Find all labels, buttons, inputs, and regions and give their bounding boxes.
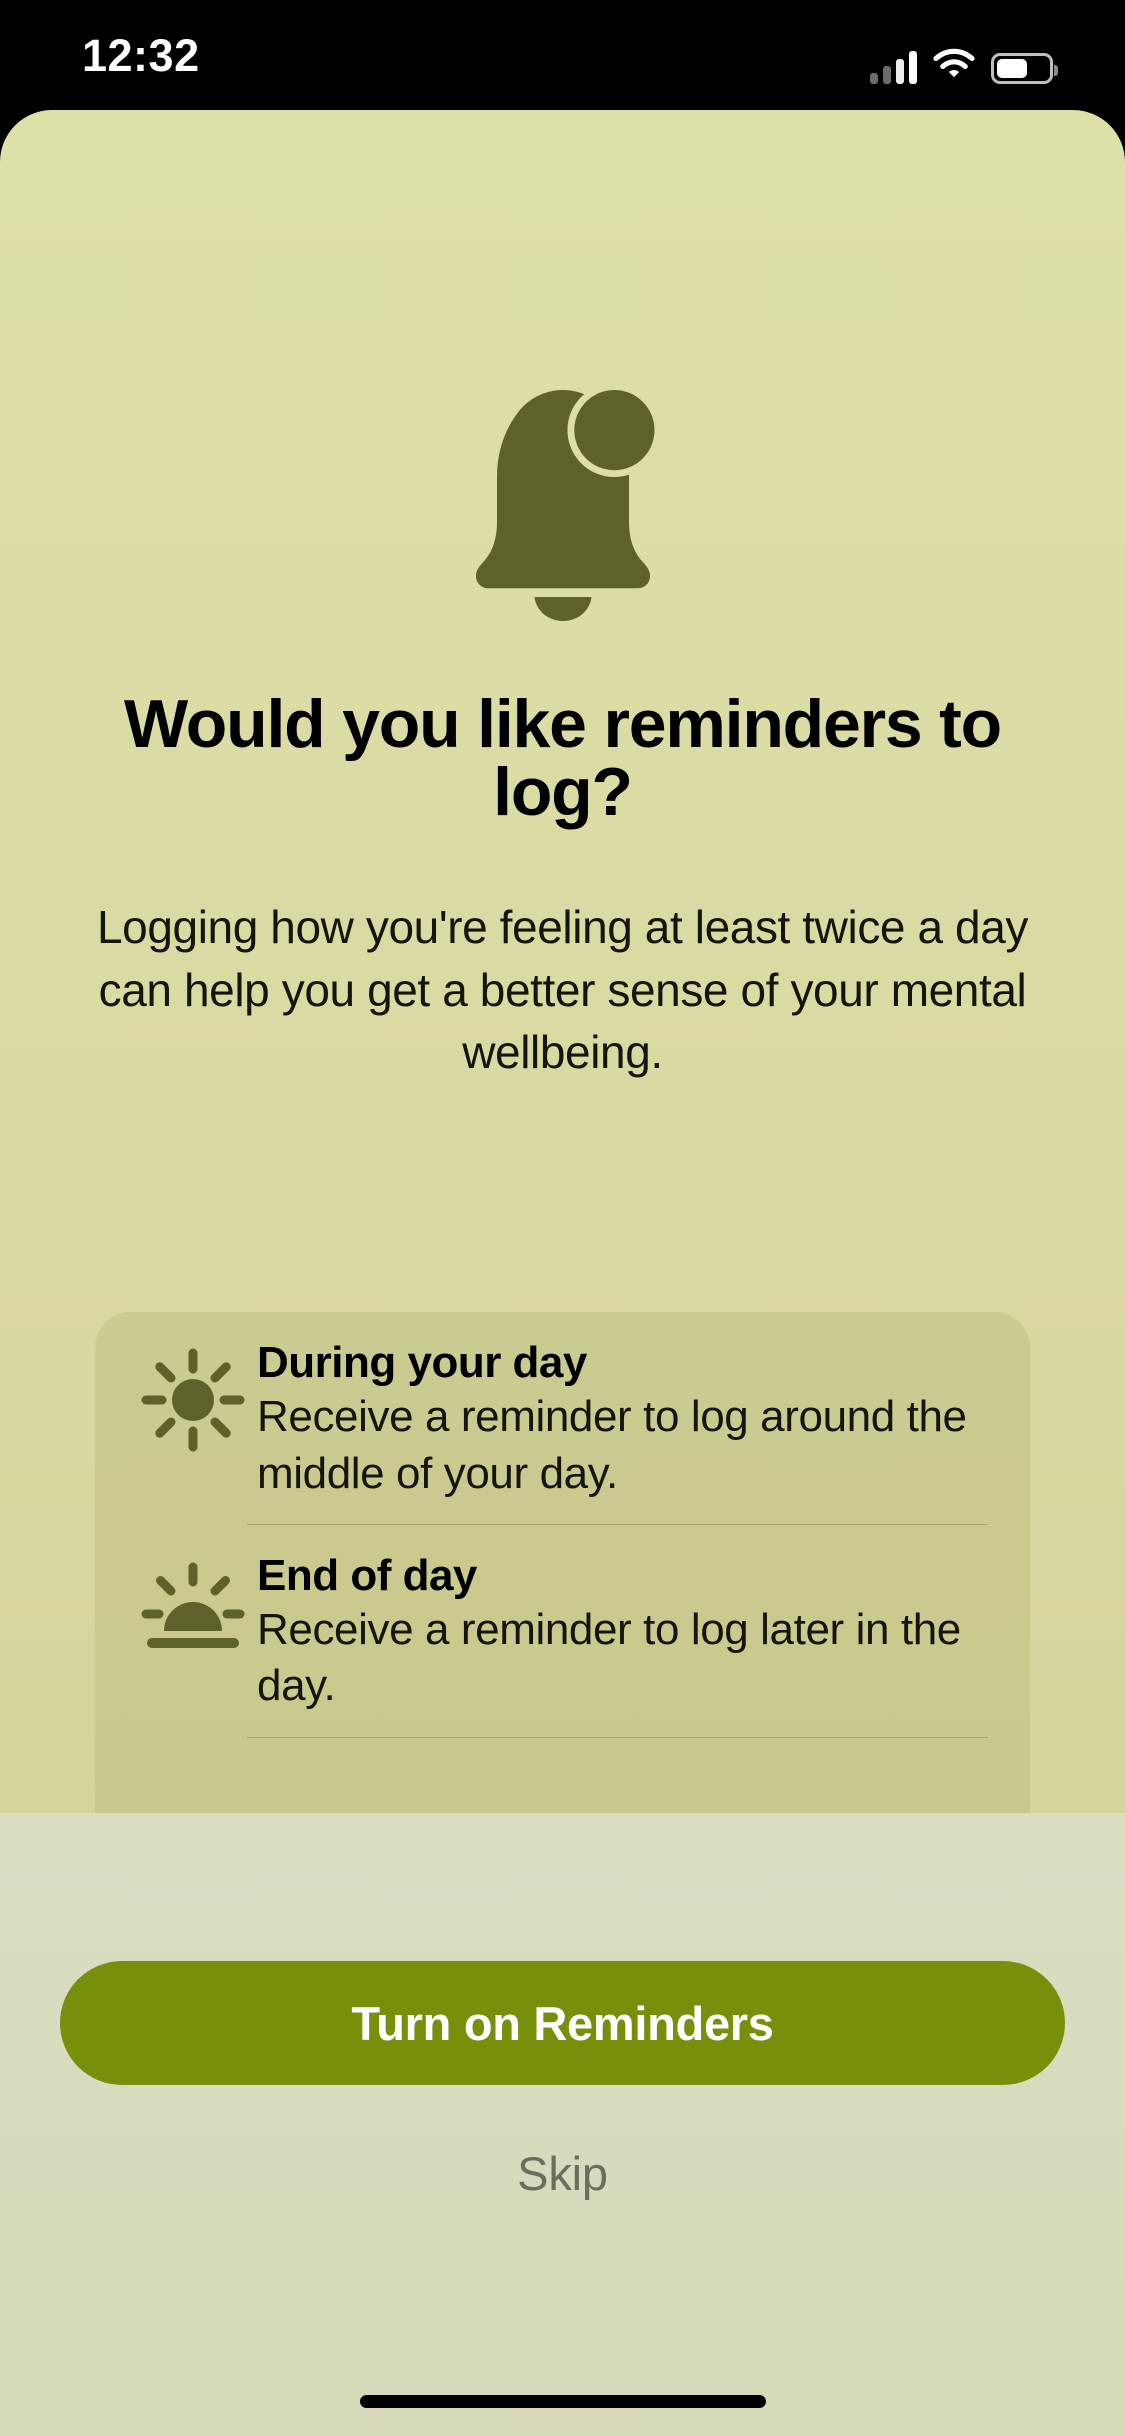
reminder-option-description: Receive a reminder to log around the mid… [257, 1389, 988, 1502]
battery-icon [991, 53, 1053, 84]
footer-action-bar: Turn on Reminders Skip [0, 1813, 1125, 2436]
card-divider-2 [247, 1737, 988, 1738]
status-bar-icons [870, 44, 1053, 84]
sunset-icon [137, 1551, 249, 1715]
status-bar: 12:32 [0, 0, 1125, 110]
reminder-option-text: During your day Receive a reminder to lo… [249, 1338, 988, 1502]
reminder-option-title: End of day [257, 1551, 988, 1600]
page-title: Would you like reminders to log? [90, 690, 1035, 826]
wifi-icon [933, 47, 975, 84]
reminder-option-text: End of day Receive a reminder to log lat… [249, 1551, 988, 1715]
page-subtext: Logging how you're feeling at least twic… [55, 896, 1070, 1084]
sun-icon [137, 1338, 249, 1502]
skip-button[interactable]: Skip [60, 2123, 1065, 2223]
turn-on-reminders-button[interactable]: Turn on Reminders [60, 1961, 1065, 2085]
status-bar-time: 12:32 [82, 30, 200, 82]
hero-icon-container [0, 385, 1125, 645]
reminder-option-end-of-day[interactable]: End of day Receive a reminder to log lat… [95, 1525, 1030, 1737]
iphone-screen: 12:32 Would you like [0, 0, 1125, 2436]
bell-with-badge-icon [454, 385, 672, 645]
reminder-option-title: During your day [257, 1338, 988, 1387]
reminder-option-description: Receive a reminder to log later in the d… [257, 1602, 988, 1715]
home-indicator[interactable] [360, 2395, 766, 2408]
reminder-option-during-day[interactable]: During your day Receive a reminder to lo… [95, 1312, 1030, 1524]
cellular-signal-icon [870, 51, 917, 84]
